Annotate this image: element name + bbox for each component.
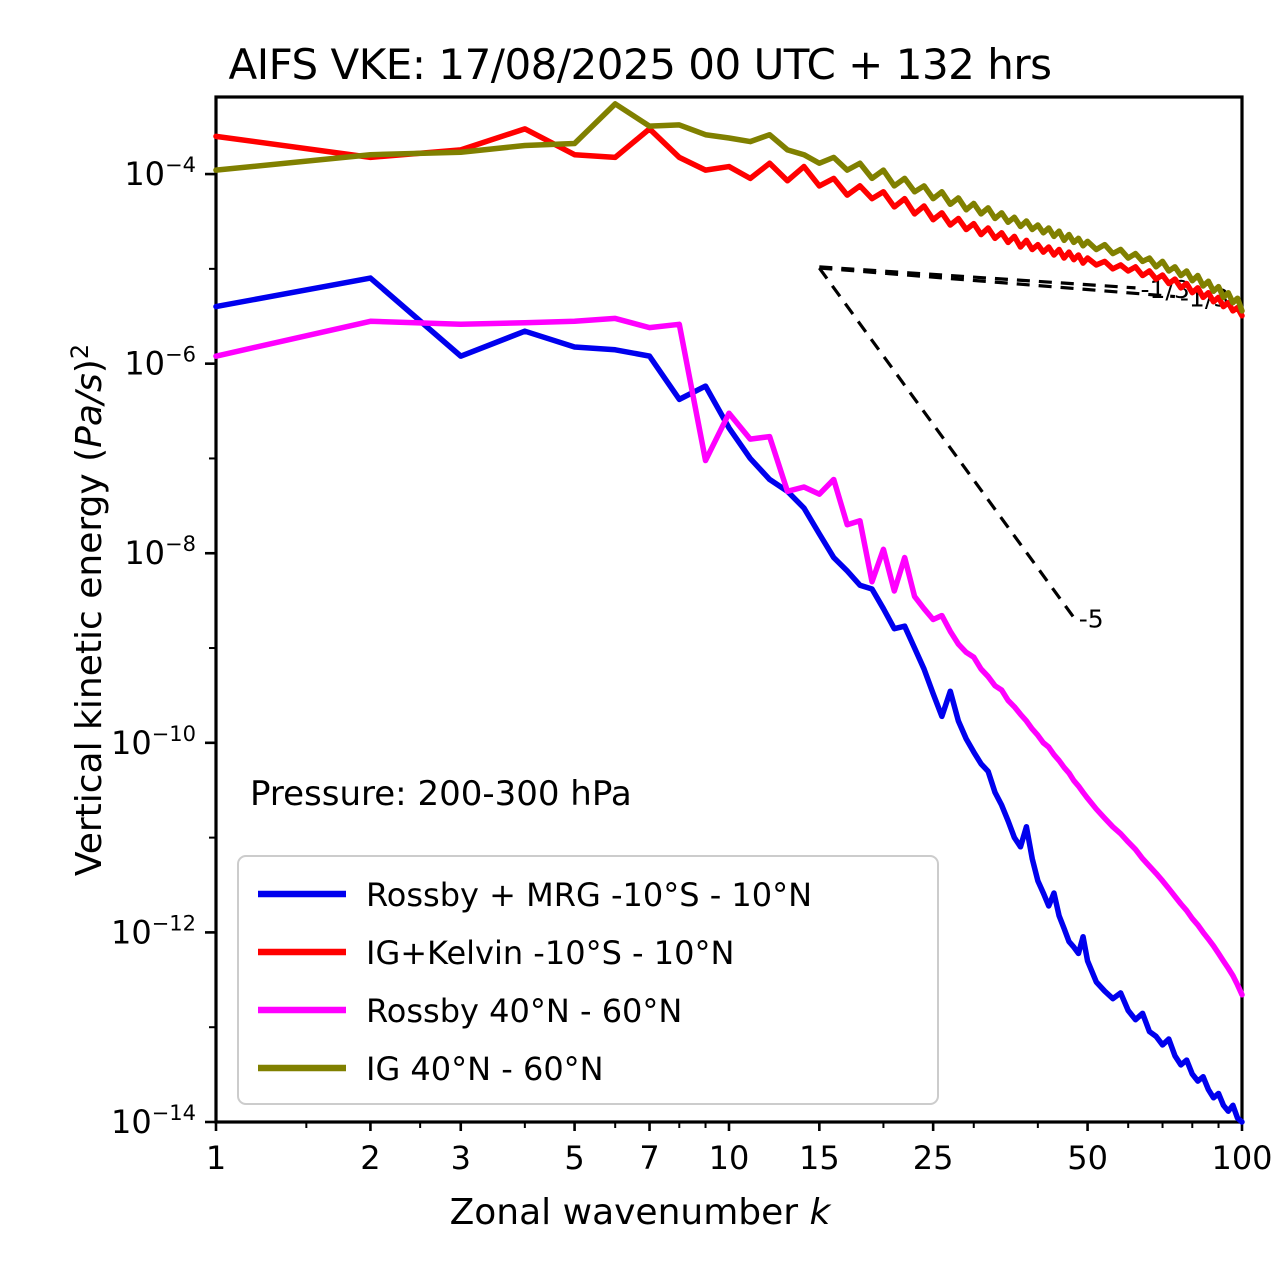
x-tick-label: 10 (709, 1139, 750, 1177)
x-tick-label: 3 (451, 1139, 471, 1177)
x-tick-label: 5 (564, 1139, 584, 1177)
legend-label: IG 40°N - 60°N (366, 1050, 604, 1088)
reference-line (819, 268, 1175, 297)
reference-lines: -1/3-1/3-5 (819, 267, 1229, 634)
x-tick-label: 50 (1067, 1139, 1108, 1177)
legend-label: IG+Kelvin -10°S - 10°N (366, 934, 734, 972)
y-tick-label: 10−10 (111, 722, 196, 762)
x-tick-label: 25 (913, 1139, 954, 1177)
reference-line-label: -5 (1079, 604, 1104, 633)
legend-label: Rossby + MRG -10°S - 10°N (366, 876, 812, 914)
y-tick-label: 10−14 (111, 1101, 196, 1141)
y-tick-label: 10−4 (124, 153, 196, 193)
chart-canvas: 1235710152550100 10−410−610−810−1010−121… (0, 0, 1280, 1288)
y-tick-label: 10−6 (124, 343, 196, 383)
legend-label: Rossby 40°N - 60°N (366, 992, 682, 1030)
y-tick-label: 10−12 (111, 911, 196, 951)
pressure-annotation: Pressure: 200-300 hPa (250, 774, 632, 814)
x-tick-label: 1 (206, 1139, 226, 1177)
pressure-label: Pressure: 200-300 hPa (250, 774, 632, 814)
x-tick-label: 100 (1211, 1139, 1272, 1177)
legend[interactable]: Rossby + MRG -10°S - 10°NIG+Kelvin -10°S… (238, 856, 938, 1104)
x-axis-ticks: 1235710152550100 (206, 1122, 1273, 1177)
y-tick-label: 10−8 (124, 532, 196, 572)
reference-line (819, 267, 1135, 288)
figure-container: AIFS VKE: 17/08/2025 00 UTC + 132 hrs Ve… (0, 0, 1280, 1288)
x-tick-label: 15 (799, 1139, 840, 1177)
y-axis-ticks: 10−410−610−810−1010−1210−14 (111, 153, 216, 1141)
x-tick-label: 2 (360, 1139, 380, 1177)
x-tick-label: 7 (639, 1139, 659, 1177)
reference-line (819, 268, 1073, 617)
